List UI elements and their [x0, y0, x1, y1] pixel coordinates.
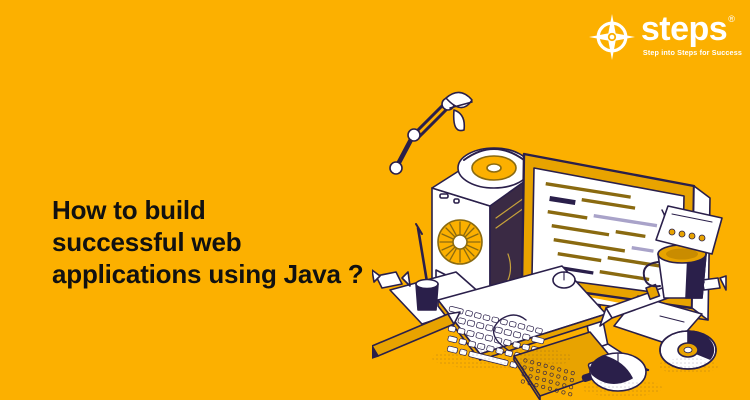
- brand-logo[interactable]: steps ® Step into Steps for Success: [589, 12, 742, 60]
- registered-trademark-icon: ®: [728, 15, 735, 24]
- headphones-icon: [458, 148, 530, 188]
- headline-line-3: applications using Java ?: [52, 258, 363, 290]
- logo-tagline: Step into Steps for Success: [643, 49, 742, 56]
- headline-line-1: How to build: [52, 194, 363, 226]
- headline-line-2: successful web: [52, 226, 363, 258]
- mouse-small-icon: [553, 272, 575, 288]
- promo-banner: steps ® Step into Steps for Success How …: [0, 0, 750, 400]
- compass-star-icon: [589, 14, 635, 60]
- logo-wordmark: steps: [641, 12, 727, 46]
- logo-text-block: steps ® Step into Steps for Success: [641, 12, 742, 56]
- developer-desk-illustration: [372, 58, 750, 400]
- page-title: How to build successful web applications…: [52, 194, 363, 290]
